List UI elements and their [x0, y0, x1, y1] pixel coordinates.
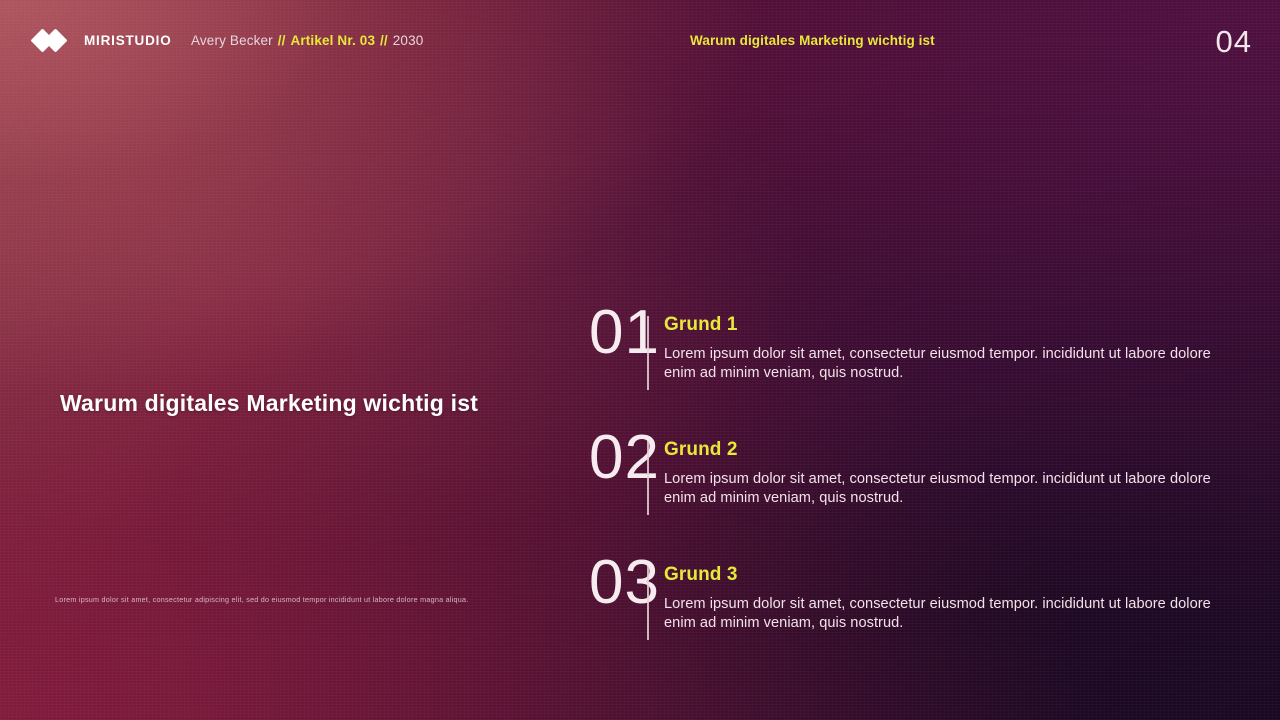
page-title: Warum digitales Marketing wichtig ist	[60, 390, 478, 417]
list-item-title: Grund 2	[664, 439, 1224, 461]
byline-separator-2: //	[379, 33, 389, 48]
list-item-divider	[647, 566, 649, 640]
list-item-title: Grund 3	[664, 564, 1224, 586]
list-item-divider	[647, 441, 649, 515]
list-item-number: 01	[530, 302, 660, 364]
slide-header: MIRISTUDIO Avery Becker // Artikel Nr. 0…	[0, 0, 1280, 80]
list-item-number: 03	[530, 552, 660, 614]
slide-canvas: MIRISTUDIO Avery Becker // Artikel Nr. 0…	[0, 0, 1280, 720]
byline: Avery Becker // Artikel Nr. 03 // 2030	[191, 33, 423, 48]
page-number: 04	[1216, 26, 1252, 57]
list-item-title: Grund 1	[664, 314, 1224, 336]
list-item-description: Lorem ipsum dolor sit amet, consectetur …	[664, 595, 1224, 634]
byline-article: Artikel Nr. 03	[290, 33, 375, 48]
brand-name: MIRISTUDIO	[84, 33, 172, 48]
list-item: 03 Grund 3 Lorem ipsum dolor sit amet, c…	[530, 550, 1230, 675]
list-item-divider	[647, 316, 649, 390]
reasons-list: 01 Grund 1 Lorem ipsum dolor sit amet, c…	[530, 300, 1230, 675]
list-item-description: Lorem ipsum dolor sit amet, consectetur …	[664, 345, 1224, 384]
footnote-text: Lorem ipsum dolor sit amet, consectetur …	[55, 595, 485, 605]
list-item: 01 Grund 1 Lorem ipsum dolor sit amet, c…	[530, 300, 1230, 425]
list-item: 02 Grund 2 Lorem ipsum dolor sit amet, c…	[530, 425, 1230, 550]
double-diamond-icon	[34, 31, 75, 50]
byline-author: Avery Becker	[191, 33, 273, 48]
list-item-description: Lorem ipsum dolor sit amet, consectetur …	[664, 470, 1224, 509]
header-topic: Warum digitales Marketing wichtig ist	[690, 33, 935, 48]
byline-year: 2030	[393, 33, 424, 48]
byline-separator-1: //	[277, 33, 287, 48]
brand-logo[interactable]: MIRISTUDIO	[34, 31, 172, 50]
list-item-number: 02	[530, 427, 660, 489]
